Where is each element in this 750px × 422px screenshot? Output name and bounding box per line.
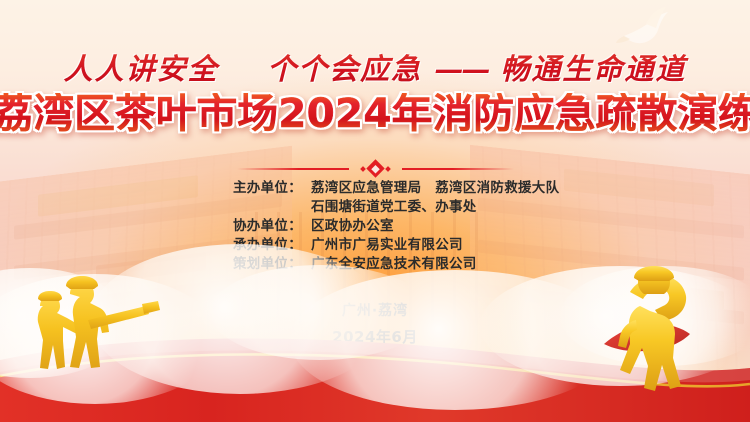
ornament-divider	[0, 162, 750, 175]
slogan-part-2: 个个会应急	[267, 52, 422, 86]
organizer-row: 主办单位： 荔湾区应急管理局 荔湾区消防救援大队	[0, 179, 750, 198]
slogan-part-3: 畅通生命通道	[500, 52, 686, 86]
organizer-label: 承办单位：	[218, 236, 302, 255]
organizer-label: 策划单位：	[218, 255, 302, 274]
slogan-dash: ——	[434, 52, 488, 86]
organizer-label: 协办单位：	[218, 217, 302, 236]
organizer-row: 石围塘街道党工委、办事处	[0, 198, 750, 217]
slogan-part-1: 人人讲安全	[64, 52, 219, 86]
slogan-line: 人人讲安全 个个会应急 —— 畅通生命通道	[0, 46, 750, 88]
organizer-label: 主办单位：	[218, 179, 302, 198]
organizer-value: 荔湾区应急管理局 荔湾区消防救援大队	[302, 179, 532, 198]
dove-icon	[616, 6, 678, 48]
organizer-value: 区政协办公室	[302, 217, 532, 236]
diamond-ornament-icon	[361, 162, 390, 175]
firefighter-rescue-silhouette	[576, 258, 716, 398]
main-title: 荔湾区茶叶市场2024年消防应急疏散演练	[0, 93, 750, 135]
organizer-value: 石围塘街道党工委、办事处	[302, 198, 532, 217]
headline-block: 人人讲安全 个个会应急 —— 畅通生命通道 荔湾区茶叶市场2024年消防应急疏散…	[0, 46, 750, 135]
fire-drill-poster: 人人讲安全 个个会应急 —— 畅通生命通道 荔湾区茶叶市场2024年消防应急疏散…	[0, 0, 750, 422]
organizer-value: 广东全安应急技术有限公司	[302, 255, 532, 274]
organizer-value: 广州市广易实业有限公司	[302, 236, 532, 255]
organizer-row: 承办单位： 广州市广易实业有限公司	[0, 236, 750, 255]
firefighter-hose-silhouette	[14, 266, 164, 386]
organizer-row: 协办单位： 区政协办公室	[0, 217, 750, 236]
